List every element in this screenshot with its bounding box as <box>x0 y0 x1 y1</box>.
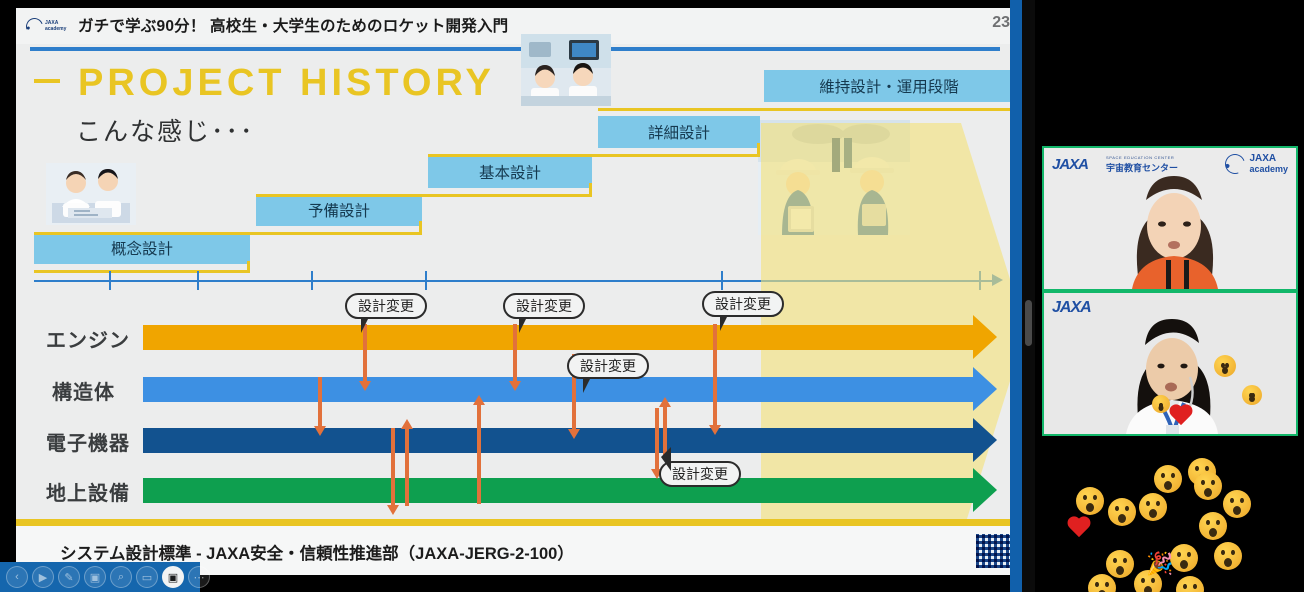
phase-step[interactable]: 詳細設計 <box>598 116 760 148</box>
change-arrow-icon <box>391 428 395 506</box>
jaxa-logo-icon: JAXA <box>1052 156 1088 174</box>
reaction-emoji <box>1223 490 1251 518</box>
change-arrow-icon <box>405 428 409 506</box>
reaction-party-popper: 🎉 <box>1146 553 1173 575</box>
clipart-students <box>46 163 136 225</box>
gantt-bar[interactable] <box>143 428 973 453</box>
change-callout[interactable]: 設計変更 <box>503 293 585 319</box>
callout-label: 設計変更 <box>715 294 771 314</box>
gantt-row-label: 地上設備 <box>46 477 130 506</box>
gantt-bar[interactable] <box>143 325 973 350</box>
gantt-row-label: 構造体 <box>52 376 115 405</box>
screen-share-region[interactable]: JAXA academy ガチで学ぶ90分！ 高校生・大学生のためのロケット開発… <box>0 0 1036 592</box>
reaction-emoji <box>1199 512 1227 540</box>
timeline-axis-arrow-icon <box>992 274 1003 286</box>
jaxa-logo-icon: JAXA <box>1052 299 1091 317</box>
change-callout[interactable]: 設計変更 <box>345 293 427 319</box>
presentation-slide[interactable]: JAXA academy ガチで学ぶ90分！ 高校生・大学生のためのロケット開発… <box>16 8 1024 575</box>
timeline-tick <box>721 271 723 290</box>
reaction-emoji <box>1176 576 1204 592</box>
timeline-tick <box>197 271 199 290</box>
phase-step[interactable]: 予備設計 <box>256 194 422 226</box>
phase-step[interactable]: 概念設計 <box>34 232 250 264</box>
share-scrollbar[interactable] <box>1022 0 1035 592</box>
scrollbar-thumb[interactable] <box>1025 300 1032 346</box>
gantt-row-label: 電子機器 <box>46 427 130 456</box>
reaction-emoji <box>1214 355 1236 377</box>
participant-video-rail: JAXA SPACE EDUCATION CENTER 宇宙教育センター JAX… <box>1036 0 1304 592</box>
callout-label: 設計変更 <box>358 296 414 316</box>
timeline-tick <box>311 271 313 290</box>
change-arrow-icon <box>713 324 717 426</box>
academy-wordmark: JAXA <box>1249 154 1288 164</box>
reaction-emoji <box>1194 472 1222 500</box>
video-tile-speaker-male[interactable]: JAXA <box>1042 291 1298 436</box>
callout-label: 設計変更 <box>672 464 728 484</box>
annotation-toolbar[interactable]: ‹ ▶ ✎ ▣ ⌕ ▭ ▣ ⋯ <box>0 562 200 592</box>
erase-button[interactable]: ▭ <box>136 566 158 588</box>
slide-header: JAXA academy ガチで学ぶ90分！ 高校生・大学生のためのロケット開発… <box>16 8 1024 44</box>
phase-step[interactable]: 維持設計・運用段階 <box>764 70 1014 102</box>
phase-step[interactable]: 基本設計 <box>428 156 592 188</box>
jaxa-academy-badge: JAXA academy <box>1225 154 1288 174</box>
back-button[interactable]: ‹ <box>6 566 28 588</box>
play-button[interactable]: ▶ <box>32 566 54 588</box>
reaction-emoji <box>1242 385 1262 405</box>
app-window: JAXA academy ガチで学ぶ90分！ 高校生・大学生のためのロケット開発… <box>0 0 1304 592</box>
header-divider <box>30 47 1000 51</box>
academy-swoosh-icon <box>1222 151 1249 178</box>
share-right-edge <box>1010 0 1022 592</box>
phase-label: 予備設計 <box>256 194 422 226</box>
camera-button[interactable]: ▣ <box>162 566 184 588</box>
share-top-letterbox <box>0 0 1036 8</box>
pen-button[interactable]: ✎ <box>58 566 80 588</box>
jaxa-wordmark: JAXA <box>1052 299 1091 316</box>
jaxa-academy-logo-icon: JAXA academy <box>26 16 74 36</box>
jaxa-wordmark: JAXA <box>1052 156 1088 173</box>
change-arrow-icon <box>477 404 481 504</box>
qr-code-icon[interactable] <box>976 534 1010 568</box>
clipart-control-room <box>521 34 611 106</box>
search-button[interactable]: ⌕ <box>110 566 132 588</box>
reaction-heart <box>1066 517 1092 541</box>
gantt-row-label: エンジン <box>46 324 130 353</box>
reaction-emoji <box>1108 498 1136 526</box>
timeline-tick <box>109 271 111 290</box>
callout-label: 設計変更 <box>580 356 636 376</box>
phase-label: 維持設計・運用段階 <box>764 70 1014 102</box>
more-button[interactable]: ⋯ <box>188 566 210 588</box>
reaction-emoji <box>1139 493 1167 521</box>
footer-divider <box>16 519 1024 526</box>
reaction-emoji <box>1088 574 1116 592</box>
change-callout[interactable]: 設計変更 <box>567 353 649 379</box>
jaxa-center-label: 宇宙教育センター <box>1106 161 1178 174</box>
logo-line2: academy <box>45 26 66 32</box>
change-arrow-icon <box>655 408 659 470</box>
jaxa-center-tagline: SPACE EDUCATION CENTER <box>1106 155 1174 160</box>
callout-label: 設計変更 <box>516 296 572 316</box>
clipart-engineers <box>758 120 910 235</box>
phase-label: 概念設計 <box>34 232 250 264</box>
reaction-emoji <box>1170 544 1198 572</box>
stamp-button[interactable]: ▣ <box>84 566 106 588</box>
video-tile-speaker-female[interactable]: JAXA SPACE EDUCATION CENTER 宇宙教育センター JAX… <box>1042 146 1298 291</box>
change-callout[interactable]: 設計変更 <box>659 461 741 487</box>
change-arrow-icon <box>318 377 322 427</box>
timeline-tick <box>425 271 427 290</box>
gantt-bar[interactable] <box>143 478 973 503</box>
timeline-axis <box>34 280 994 282</box>
academy-subword: academy <box>1249 164 1288 174</box>
slide-header-title: ガチで学ぶ90分！ 高校生・大学生のためのロケット開発入門 <box>78 14 508 36</box>
phase-label: 基本設計 <box>428 156 592 188</box>
page-subtitle: こんな感じ･･･ <box>76 112 255 148</box>
footer-text: システム設計標準 - JAXA安全・信頼性推進部（JAXA-JERG-2-100… <box>60 540 574 564</box>
change-callout[interactable]: 設計変更 <box>702 291 784 317</box>
reaction-emoji <box>1154 465 1182 493</box>
reaction-emoji <box>1214 542 1242 570</box>
reaction-emoji <box>1076 487 1104 515</box>
title-dash-icon <box>34 79 60 83</box>
timeline-tick <box>979 271 981 290</box>
page-title: PROJECT HISTORY <box>78 62 495 105</box>
change-arrow-icon <box>513 324 517 382</box>
phase-label: 詳細設計 <box>598 116 760 148</box>
slide-page-number: 23 <box>992 14 1010 32</box>
reaction-heart <box>1168 405 1188 423</box>
gantt-bar[interactable] <box>143 377 973 402</box>
